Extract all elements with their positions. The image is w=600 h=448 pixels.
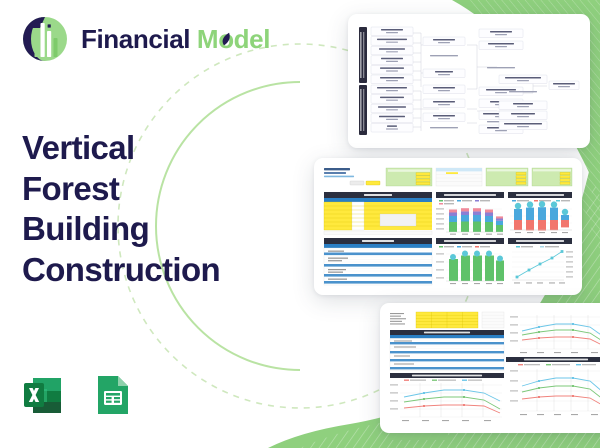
statements-screenshot xyxy=(386,309,600,427)
circle-bar-chart-leaf-logo-icon xyxy=(20,14,70,64)
google-sheets-icon[interactable] xyxy=(88,372,134,418)
brand-name-part2a: M xyxy=(197,24,218,54)
brand-name: Financial Model xyxy=(81,26,270,52)
title-line-1: Vertical xyxy=(22,128,220,169)
financial-ratio-tree-preview xyxy=(357,23,581,139)
ratio-tree-diagram xyxy=(357,23,581,139)
file-format-icons xyxy=(20,372,134,418)
brand-logo[interactable]: Financial Model xyxy=(20,14,270,64)
brand-name-part2b: del xyxy=(234,24,270,54)
dashboard-case-financials-panel xyxy=(324,238,432,285)
preview-card-dashboard[interactable] xyxy=(314,158,582,295)
tree-band-balance-sheet xyxy=(359,85,367,135)
leaf-icon xyxy=(220,32,231,47)
tree-band-income-statement xyxy=(359,27,367,83)
dashboard-screenshot xyxy=(320,164,576,289)
chart-legend xyxy=(439,246,490,248)
brand-name-part1: Financial xyxy=(81,24,197,54)
tree-column-1 xyxy=(371,27,413,132)
dashboard-case-inputs-panel xyxy=(324,192,432,234)
dashboard-preview xyxy=(320,164,576,289)
financial-statements-preview xyxy=(386,309,600,427)
chart-legend xyxy=(518,364,596,365)
tree-column-5 xyxy=(549,81,579,90)
title-line-3: Building xyxy=(22,209,220,250)
page-title: Vertical Forest Building Construction xyxy=(22,128,220,290)
microsoft-excel-icon[interactable] xyxy=(20,372,66,418)
dashboard-top-table xyxy=(436,168,482,186)
chart-legend xyxy=(404,380,482,381)
preview-card-statements[interactable] xyxy=(380,303,600,433)
dashboard-assumptions-green xyxy=(386,168,432,186)
title-line-4: Construction xyxy=(22,250,220,291)
tree-column-2 xyxy=(423,37,465,128)
brand-name-o-with-leaf: o xyxy=(218,26,233,52)
tree-column-4 xyxy=(499,75,547,130)
preview-card-ratio-tree[interactable] xyxy=(348,14,590,148)
title-line-2: Forest xyxy=(22,169,220,210)
